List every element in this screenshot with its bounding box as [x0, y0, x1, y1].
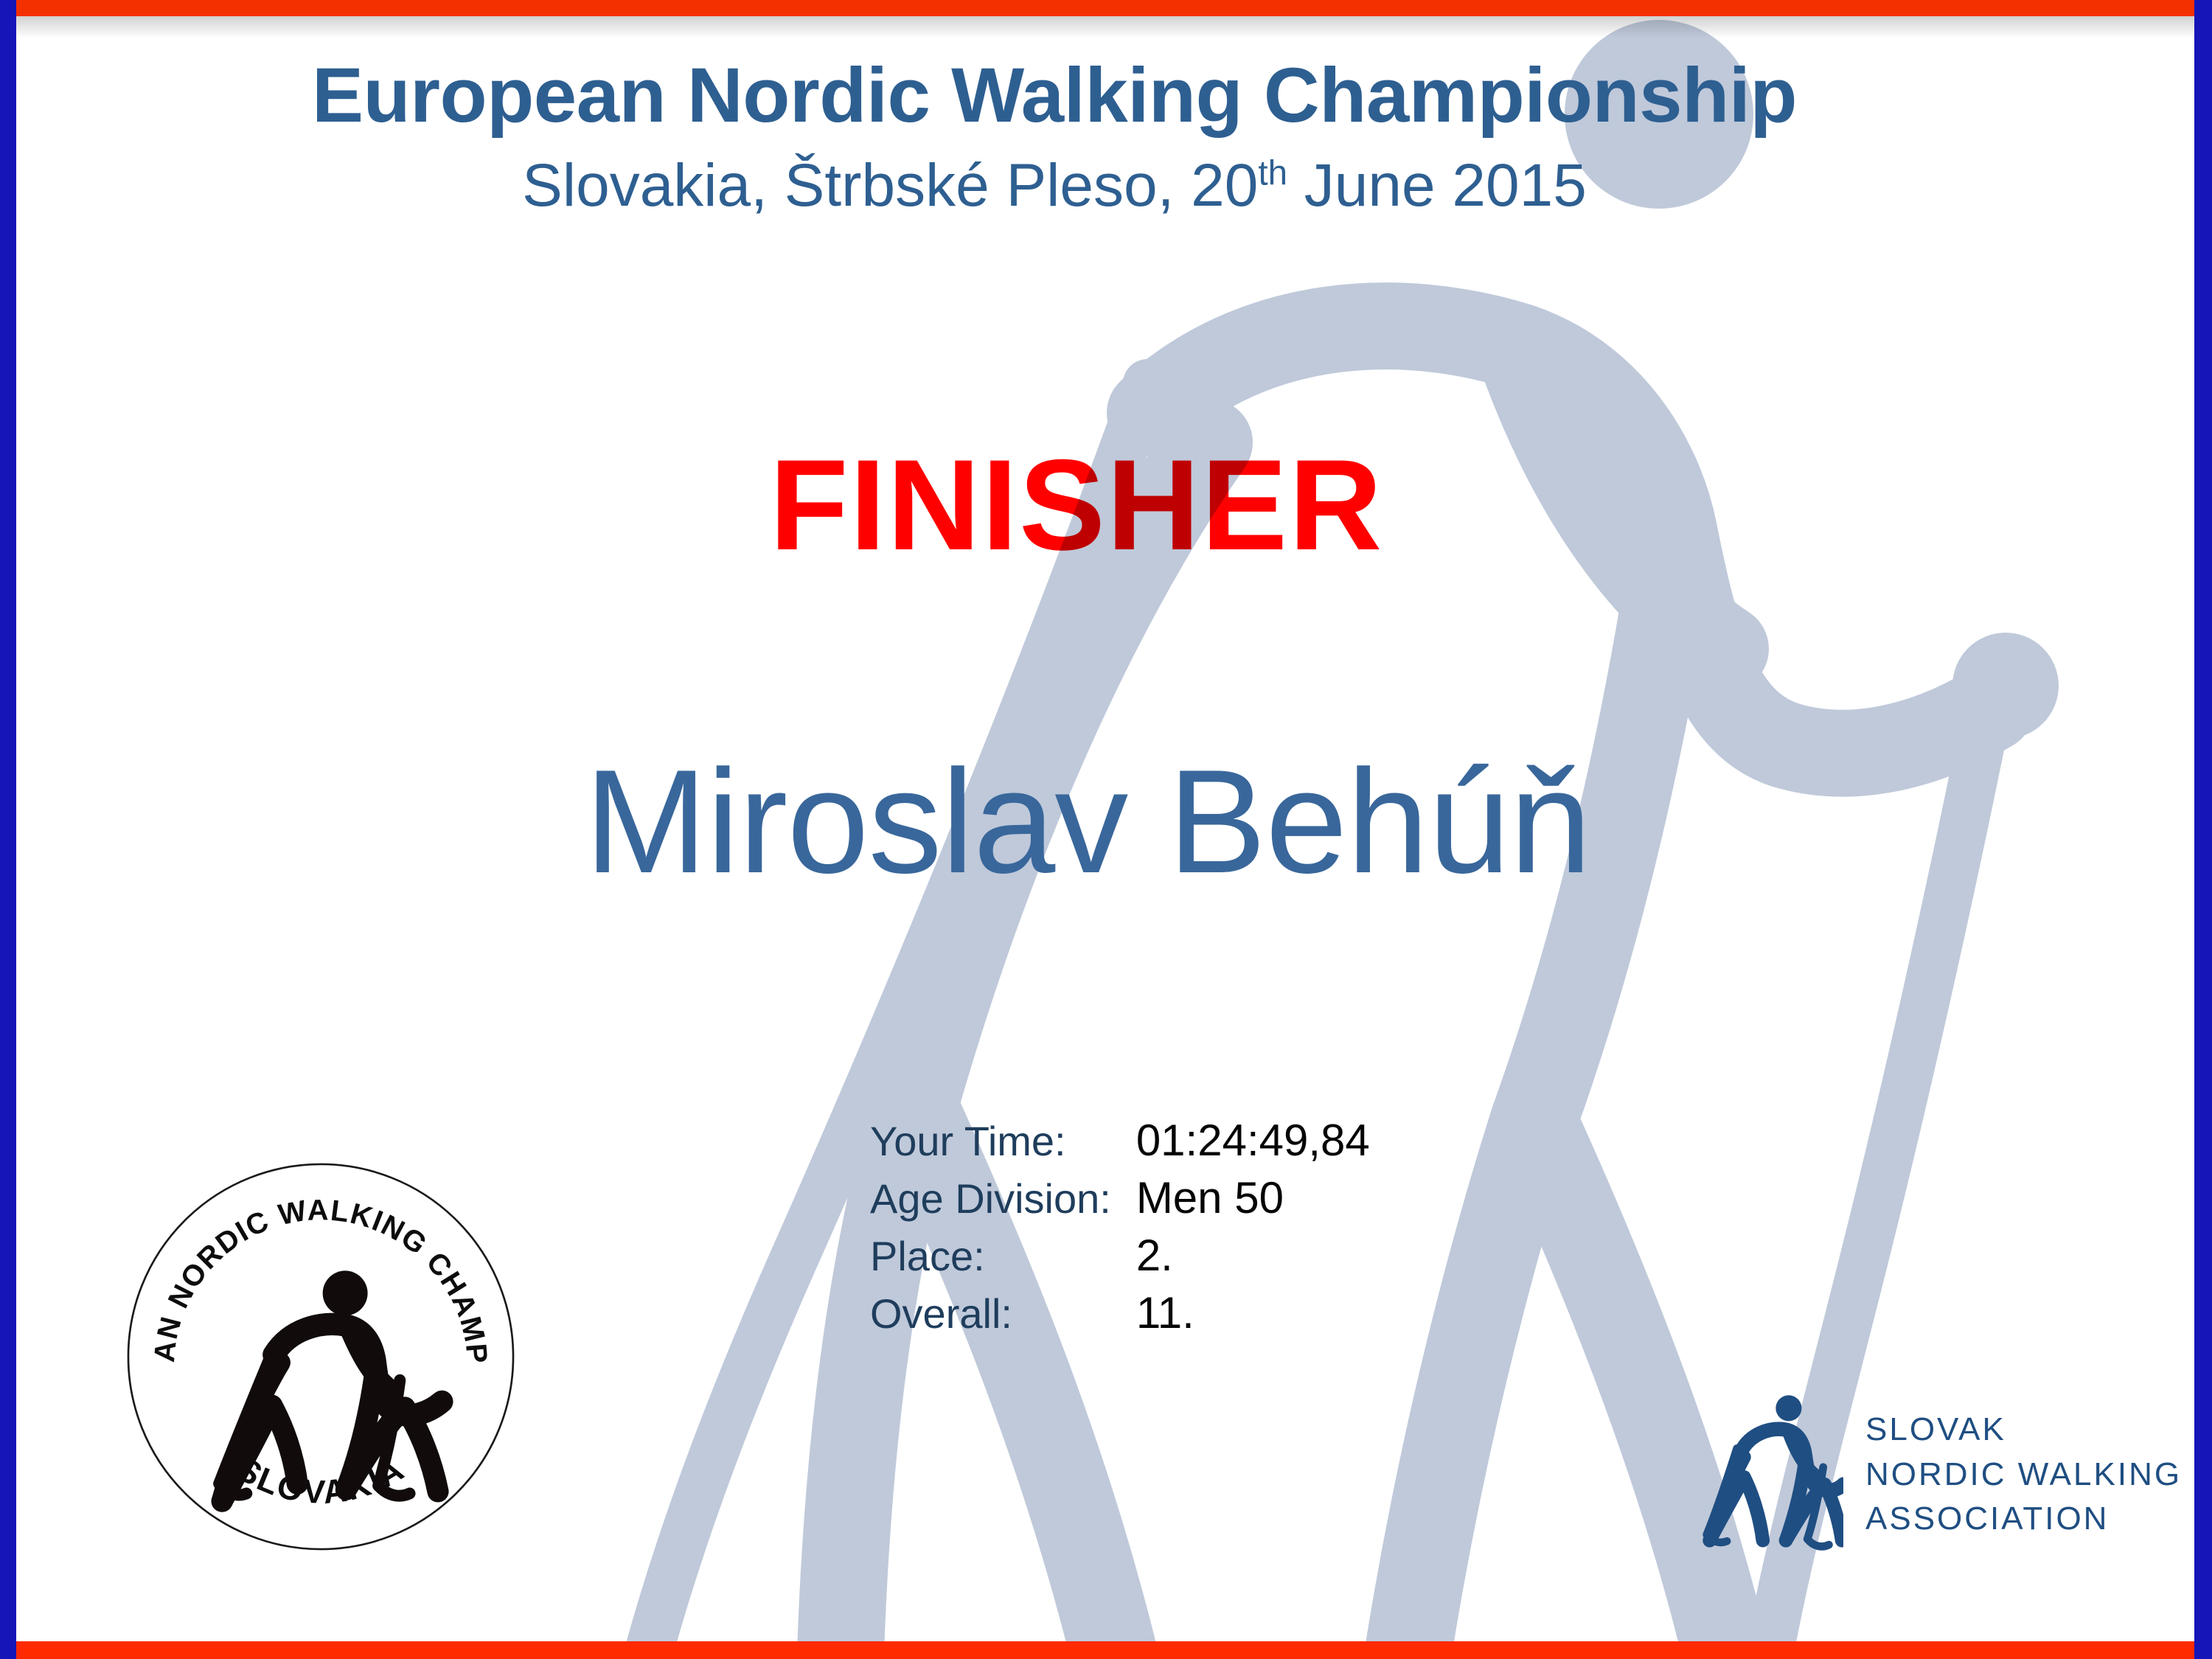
result-label-your-time: Your Time:	[870, 1112, 1136, 1169]
enwc-championship-logo: EUROPEAN NORDIC WALKING CHAMPIONSHIP SLO…	[125, 1161, 516, 1552]
border-band-left	[0, 0, 16, 1659]
result-value-place: 2.	[1136, 1227, 1370, 1284]
border-band-bottom	[0, 1641, 2212, 1659]
table-row: Place: 2.	[870, 1227, 1370, 1284]
event-location-date: Slovakia, Štrbské Pleso, 20th June 2015	[0, 151, 2109, 220]
ordinal-suffix: th	[1258, 153, 1287, 192]
snwa-logo: SLOVAK NORDIC WALKING ASSOCIATION	[1700, 1390, 2157, 1559]
table-row: Overall: 11.	[870, 1284, 1370, 1342]
page-title: European Nordic Walking Championship	[0, 52, 2109, 141]
border-band-top	[0, 0, 2212, 16]
results-block: Your Time: 01:24:49,84 Age Division: Men…	[870, 1112, 1370, 1342]
result-label-place: Place:	[870, 1227, 1136, 1284]
snwa-line-3: ASSOCIATION	[1865, 1497, 2182, 1542]
snwa-line-1: SLOVAK	[1865, 1408, 2182, 1453]
certificate-page: European Nordic Walking Championship Slo…	[0, 0, 2212, 1659]
border-band-right	[2194, 0, 2212, 1659]
snwa-logo-text: SLOVAK NORDIC WALKING ASSOCIATION	[1865, 1408, 2182, 1542]
result-label-age-division: Age Division:	[870, 1169, 1136, 1227]
result-value-your-time: 01:24:49,84	[1136, 1112, 1370, 1169]
location-date-prefix: Slovakia, Štrbské Pleso, 20	[522, 152, 1258, 219]
location-date-suffix: June 2015	[1287, 152, 1587, 219]
result-label-overall: Overall:	[870, 1284, 1136, 1342]
table-row: Your Time: 01:24:49,84	[870, 1112, 1370, 1169]
results-table: Your Time: 01:24:49,84 Age Division: Men…	[870, 1112, 1370, 1342]
award-label: FINISHER	[0, 431, 2153, 580]
result-value-age-division: Men 50	[1136, 1169, 1370, 1227]
athlete-name: Miroslav Behúň	[0, 737, 2175, 907]
nordic-walker-icon	[1700, 1392, 1843, 1558]
snwa-line-2: NORDIC WALKING	[1865, 1453, 2182, 1498]
table-row: Age Division: Men 50	[870, 1169, 1370, 1227]
result-value-overall: 11.	[1136, 1284, 1370, 1342]
certificate-header: European Nordic Walking Championship Slo…	[0, 52, 2109, 220]
